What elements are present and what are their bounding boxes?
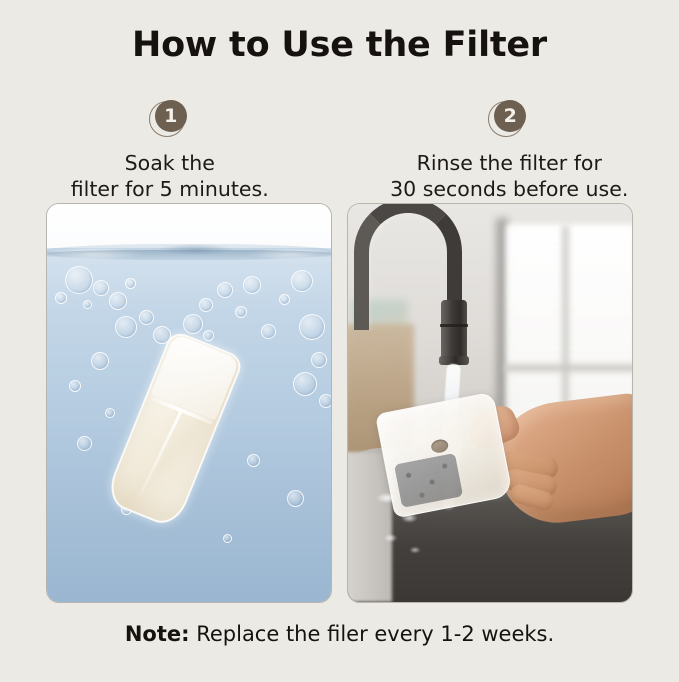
bubble xyxy=(279,294,290,305)
bubble xyxy=(311,352,327,368)
bubble xyxy=(115,316,137,338)
bubble xyxy=(299,314,325,340)
step-1-image-card xyxy=(46,203,332,603)
window-mullion-horizontal xyxy=(504,364,633,372)
bubble xyxy=(203,330,214,341)
bubble xyxy=(109,292,127,310)
faucet-head xyxy=(441,300,467,362)
step-1: 1 Soak the filter for 5 minutes. xyxy=(0,100,340,202)
infographic-page: How to Use the Filter 1 Soak the filter … xyxy=(0,0,679,682)
step-2-caption: Rinse the filter for 30 seconds before u… xyxy=(390,150,628,202)
step-1-number: 1 xyxy=(155,100,187,132)
step-1-caption: Soak the filter for 5 minutes. xyxy=(71,150,269,202)
bubble xyxy=(293,372,317,396)
bubble xyxy=(91,352,109,370)
bubble xyxy=(217,282,233,298)
water-surface-shadow xyxy=(46,250,332,259)
bubble xyxy=(65,266,93,294)
bubble xyxy=(287,490,304,507)
step-2-badge-wrap: 2 xyxy=(488,100,530,140)
page-title: How to Use the Filter xyxy=(0,25,679,65)
bubble xyxy=(235,306,247,318)
bubble xyxy=(199,298,213,312)
bubble xyxy=(223,534,232,543)
bubble xyxy=(139,310,154,325)
water-splash xyxy=(366,482,436,562)
bubble xyxy=(291,270,313,292)
faucet-band xyxy=(440,324,468,327)
step-1-badge-wrap: 1 xyxy=(149,100,191,140)
note-text: Replace the filer every 1-2 weeks. xyxy=(190,622,555,646)
image-cards xyxy=(46,203,633,603)
bubble xyxy=(55,292,67,304)
step-2-number: 2 xyxy=(494,100,526,132)
bubble xyxy=(247,454,260,467)
pouch-grommet xyxy=(430,438,449,454)
bubble xyxy=(93,280,109,296)
step-2-image-card xyxy=(347,203,633,603)
bubble xyxy=(77,436,92,451)
bubble xyxy=(105,408,115,418)
note-label: Note: xyxy=(125,622,190,646)
step-2: 2 Rinse the filter for 30 seconds before… xyxy=(340,100,679,202)
bubble xyxy=(319,394,332,408)
steps-row: 1 Soak the filter for 5 minutes. 2 Rinse… xyxy=(0,100,679,202)
bubble xyxy=(125,278,136,289)
bubble xyxy=(183,314,203,334)
bubble xyxy=(243,276,261,294)
bubble xyxy=(261,324,276,339)
bubble xyxy=(69,380,81,392)
footer-note: Note: Replace the filer every 1-2 weeks. xyxy=(0,622,679,646)
bubble xyxy=(83,300,92,309)
